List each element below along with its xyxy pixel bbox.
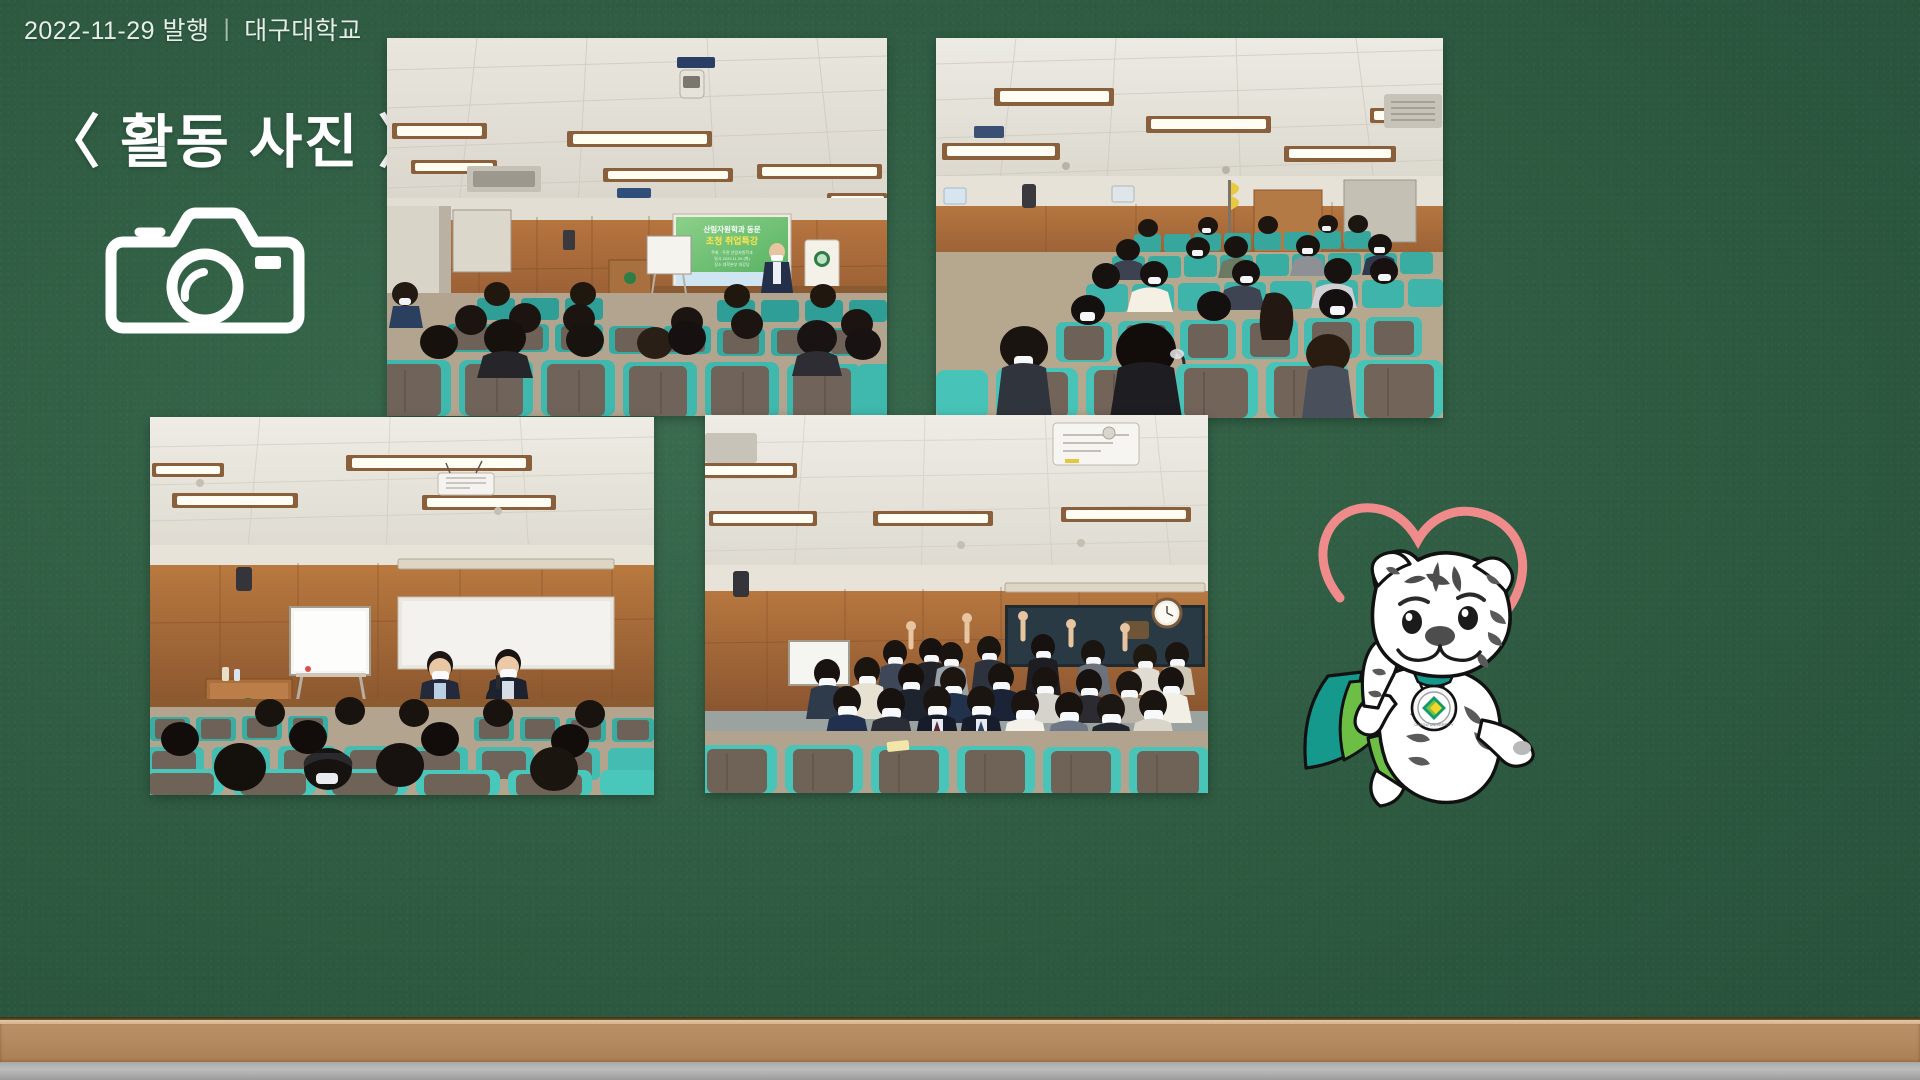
- svg-text:DAEGU UNIVERSITY: DAEGU UNIVERSITY: [1414, 722, 1454, 727]
- floor-strip: [0, 1062, 1920, 1080]
- photo-audience-seated: [936, 38, 1443, 418]
- header-bar: 2022-11-29 발행 | 대구대학교: [24, 11, 362, 47]
- svg-text:초청 취업특강: 초청 취업특강: [706, 235, 759, 246]
- header-separator: |: [223, 15, 230, 43]
- svg-text:산림자원학과 동문: 산림자원학과 동문: [703, 224, 760, 234]
- svg-text:주최ㆍ주관 산림자원학과: 주최ㆍ주관 산림자원학과: [711, 249, 753, 255]
- photo-speakers-on-stage: [150, 417, 654, 795]
- chalkboard-ledge: [0, 1024, 1920, 1064]
- svg-text:일시 2022.11.29 (화): 일시 2022.11.29 (화): [714, 255, 750, 261]
- white-tiger-mascot: DAEGU UNIVERSITY: [1268, 470, 1588, 820]
- page-title: 〈 활동 사진 〉: [42, 95, 438, 179]
- camera-icon: [105, 190, 305, 335]
- photo-lecture-hall-wide: 산림자원학과 동문 초청 취업특강 주최ㆍ주관 산림자원학과 일시 2022.1…: [387, 38, 887, 416]
- chalkboard-background: 2022-11-29 발행 | 대구대학교 〈 활동 사진 〉: [0, 0, 1920, 1080]
- photo-group-photo: [705, 415, 1208, 793]
- svg-text:장소 대학본부 대강당: 장소 대학본부 대강당: [714, 261, 750, 267]
- issue-date: 2022-11-29 발행: [24, 11, 209, 47]
- organization-name: 대구대학교: [244, 11, 362, 47]
